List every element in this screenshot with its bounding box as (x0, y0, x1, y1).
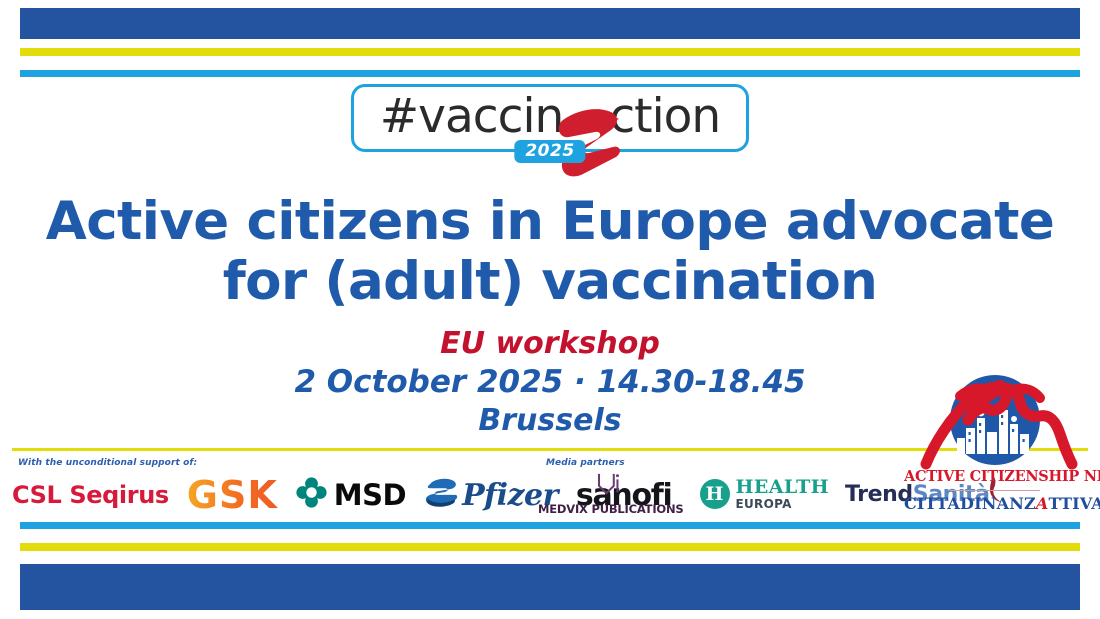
poster-canvas: #vaccin ction 2025 Active citizens in Eu… (0, 0, 1100, 619)
event-type-text: EU workshop (0, 326, 1100, 363)
active-citizenship-network-logo: ACTIVE CITIZENSHIP NETWORK CITTADINANZAT… (904, 372, 1086, 520)
brand-prefix-text: #vaccin (380, 89, 564, 144)
media-partners-label: Media partners (546, 458, 625, 468)
logo-csl-seqirus: CSL Seqirus (12, 481, 169, 509)
acn-sub-red-a: A (1036, 494, 1049, 513)
health-europa-wordmark: HEALTH EUROPA (736, 478, 829, 510)
acn-network-name: ACTIVE CITIZENSHIP NETWORK (904, 468, 1086, 485)
acn-divider (950, 490, 1040, 491)
top-dark-blue-band (20, 8, 1080, 39)
support-label: With the unconditional support of: (18, 458, 197, 468)
msd-clover-icon (296, 477, 327, 513)
trend-text-part1: Trend (845, 482, 913, 507)
brand-rounded-frame: #vaccin ction 2025 (351, 84, 749, 152)
health-europa-initial-icon: H (700, 479, 730, 509)
poster-title: Active citizens in Europe advocate for (… (0, 192, 1100, 312)
acn-sub-part2: TTIVA (1049, 494, 1100, 513)
msd-text: MSD (334, 478, 406, 512)
medvix-text: MEDVIX PUBLICATIONS (538, 502, 684, 516)
health-main-text: HEALTH (736, 478, 829, 497)
bottom-light-blue-stripe (20, 522, 1080, 529)
top-light-blue-stripe (20, 70, 1080, 77)
top-yellow-stripe (20, 48, 1080, 56)
medvix-monogram-icon (597, 472, 625, 501)
pfizer-swirl-icon (424, 477, 460, 514)
acn-sub-part1: CITTADINANZ (904, 494, 1036, 513)
bottom-dark-blue-band (20, 564, 1080, 610)
logo-medvix: MEDVIX PUBLICATIONS (538, 472, 684, 516)
brand-wordmark: #vaccin ction (380, 93, 720, 141)
logo-msd: MSD (296, 477, 406, 513)
brand-suffix-text: ction (609, 89, 720, 144)
title-line-1: Active citizens in Europe advocate (0, 192, 1100, 252)
vaccinaction-brand-lockup: #vaccin ction 2025 (0, 84, 1100, 152)
title-line-2: for (adult) vaccination (0, 252, 1100, 312)
health-sub-text: EUROPA (736, 498, 829, 510)
logo-gsk: GSK (187, 476, 278, 514)
brand-year-badge: 2025 (514, 140, 585, 163)
bottom-yellow-stripe (20, 543, 1080, 551)
logo-health-europa: H HEALTH EUROPA (700, 478, 829, 510)
acn-sub-name: CITTADINANZATTIVA (904, 494, 1086, 513)
